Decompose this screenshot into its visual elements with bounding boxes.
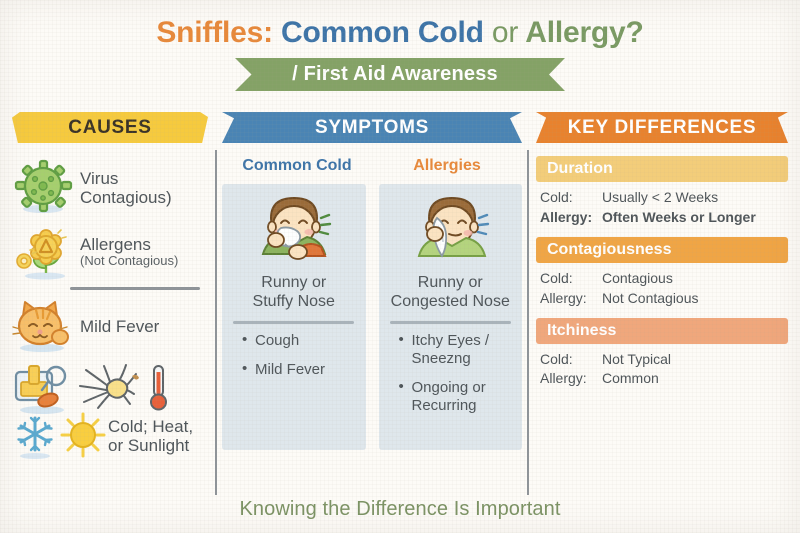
kd-value-cold-duration: Usually < 2 Weeks — [602, 188, 788, 208]
kd-key-allergy-contagiousness: Allergy: — [540, 289, 602, 309]
causes-list: Virus Contagious) — [12, 157, 208, 460]
cause-item-virus: Virus Contagious) — [12, 157, 208, 219]
symptom-bullets-cold: Cough Mild Fever — [228, 332, 360, 390]
cause-text-mild-fever: Mild Fever — [80, 317, 159, 336]
key-difference-label-itchiness: Itchiness — [547, 322, 616, 340]
cause-item-weather — [12, 360, 208, 416]
symptom-card-rule-cold — [233, 321, 354, 324]
title-or: or — [492, 16, 518, 49]
cause-item-allergens: Allergens (Not Contagious) — [12, 221, 208, 283]
sun-thermometer-icon — [74, 360, 174, 416]
pollen-flower-icon — [12, 221, 74, 283]
sun-icon — [60, 412, 106, 460]
symptoms-subhead-common-cold: Common Cold — [222, 157, 372, 175]
boy-blowing-nose-icon — [251, 192, 337, 270]
kd-key-cold-itchiness: Cold: — [540, 350, 602, 370]
virus-icon — [12, 157, 74, 219]
symptom-bullet-allergy-1: Itchy Eyes / Sneezng — [399, 332, 517, 368]
key-difference-block-contagiousness: Contagiousness Cold: Contagious Allergy:… — [536, 237, 788, 309]
title-allergy: Allergy? — [525, 16, 643, 49]
symptom-title-allergies: Runny or Congested Nose — [391, 274, 510, 312]
key-differences-banner-label: KEY DIFFERENCES — [568, 117, 757, 139]
key-difference-label-duration: Duration — [547, 160, 613, 178]
symptom-title-line2-cold: Stuffy Nose — [253, 293, 335, 310]
cause-text-cold-heat-sunlight: Cold; Heat, or Sunlight — [108, 417, 193, 455]
key-difference-row-allergy-contagiousness: Allergy: Not Contagious — [540, 289, 788, 309]
symptoms-banner-label: SYMPTOMS — [315, 117, 429, 139]
kd-value-cold-itchiness: Not Typical — [602, 350, 788, 370]
key-difference-row-cold-duration: Cold: Usually < 2 Weeks — [540, 188, 788, 208]
kd-value-allergy-itchiness: Common — [602, 369, 788, 389]
kd-key-allergy-duration: Allergy: — [540, 208, 602, 228]
key-difference-subbar-duration: Duration — [536, 156, 788, 182]
cause-item-cold-heat-sunlight: Cold; Heat, or Sunlight — [12, 412, 208, 460]
symptom-card-common-cold: Runny or Stuffy Nose Cough Mild Fever — [222, 184, 366, 450]
symptom-bullet-cold-1: Cough — [242, 332, 360, 350]
cause-label-cold-heat: Cold; Heat, — [108, 417, 193, 436]
symptom-title-line1-allergy: Runny or — [418, 274, 483, 291]
key-difference-row-cold-itchiness: Cold: Not Typical — [540, 350, 788, 370]
symptom-bullets-allergy: Itchy Eyes / Sneezng Ongoing or Recurrin… — [385, 332, 517, 426]
cause-label-mild-fever: Mild Fever — [80, 317, 159, 336]
subtitle-text: / First Aid Awareness — [292, 63, 508, 86]
kd-value-allergy-duration: Often Weeks or Longer — [602, 208, 788, 228]
key-difference-rows-duration: Cold: Usually < 2 Weeks Allergy: Often W… — [536, 182, 788, 228]
symptoms-column: SYMPTOMS Common Cold Allergies — [222, 112, 522, 497]
kd-key-allergy-itchiness: Allergy: — [540, 369, 602, 389]
column-divider-right — [527, 150, 529, 495]
key-differences-list: Duration Cold: Usually < 2 Weeks Allergy… — [536, 156, 788, 389]
symptom-card-allergies: Runny or Congested Nose Itchy Eyes / Sne… — [379, 184, 523, 450]
key-difference-block-itchiness: Itchiness Cold: Not Typical Allergy: Com… — [536, 318, 788, 390]
footer-caption: Knowing the Difference Is Important — [0, 498, 800, 521]
symptom-title-line1-cold: Runny or — [261, 274, 326, 291]
causes-banner-label: CAUSES — [68, 117, 151, 139]
cause-text-virus: Virus Contagious) — [80, 169, 172, 207]
causes-separator — [70, 287, 200, 290]
page-title: Sniffles: Common Cold or Allergy? — [0, 16, 800, 50]
boy-sneezing-tissue-icon — [407, 192, 493, 270]
title-sniffles: Sniffles: — [156, 16, 273, 49]
cause-sub-cold-heat: or Sunlight — [108, 436, 193, 455]
cause-sub-allergens: (Not Contagious) — [80, 254, 178, 269]
symptoms-banner: SYMPTOMS — [222, 112, 522, 143]
key-difference-rows-itchiness: Cold: Not Typical Allergy: Common — [536, 344, 788, 390]
symptom-card-rule-allergy — [390, 321, 511, 324]
cause-label-virus: Virus — [80, 169, 172, 188]
key-difference-rows-contagiousness: Cold: Contagious Allergy: Not Contagious — [536, 263, 788, 309]
kd-value-cold-contagiousness: Contagious — [602, 269, 788, 289]
symptoms-subheaders: Common Cold Allergies — [222, 157, 522, 175]
column-divider-left — [215, 150, 217, 495]
symptoms-subhead-allergies: Allergies — [372, 157, 522, 175]
key-difference-row-allergy-duration: Allergy: Often Weeks or Longer — [540, 208, 788, 228]
key-difference-subbar-itchiness: Itchiness — [536, 318, 788, 344]
kd-key-cold-duration: Cold: — [540, 188, 602, 208]
key-difference-block-duration: Duration Cold: Usually < 2 Weeks Allergy… — [536, 156, 788, 228]
key-difference-row-cold-contagiousness: Cold: Contagious — [540, 269, 788, 289]
kd-key-cold-contagiousness: Cold: — [540, 269, 602, 289]
cause-item-mild-fever: Mild Fever — [12, 296, 208, 358]
symptom-title-line2-allergy: Congested Nose — [391, 293, 510, 310]
causes-column: CAUSES — [12, 112, 208, 497]
cause-sub-virus: Contagious) — [80, 188, 172, 207]
symptom-title-common-cold: Runny or Stuffy Nose — [253, 274, 335, 312]
causes-banner: CAUSES — [12, 112, 208, 143]
key-differences-banner: KEY DIFFERENCES — [536, 112, 788, 143]
symptom-bullet-cold-2: Mild Fever — [242, 361, 360, 379]
title-common-cold: Common Cold — [281, 16, 484, 49]
key-difference-label-contagiousness: Contagiousness — [547, 241, 671, 259]
cause-text-allergens: Allergens (Not Contagious) — [80, 235, 178, 269]
page-header: Sniffles: Common Cold or Allergy? / Firs… — [0, 0, 800, 108]
kd-value-allergy-contagiousness: Not Contagious — [602, 289, 788, 309]
cause-label-allergens: Allergens — [80, 235, 178, 254]
symptom-bullet-allergy-2: Ongoing or Recurring — [399, 379, 517, 415]
medicine-box-icon — [12, 360, 74, 416]
subtitle-ribbon: / First Aid Awareness — [235, 58, 565, 91]
key-differences-column: KEY DIFFERENCES Duration Cold: Usually <… — [536, 112, 788, 497]
cat-icon — [12, 296, 74, 358]
symptoms-cards: Runny or Stuffy Nose Cough Mild Fever — [222, 184, 522, 450]
key-difference-subbar-contagiousness: Contagiousness — [536, 237, 788, 263]
snowflake-icon — [12, 412, 58, 460]
key-difference-row-allergy-itchiness: Allergy: Common — [540, 369, 788, 389]
